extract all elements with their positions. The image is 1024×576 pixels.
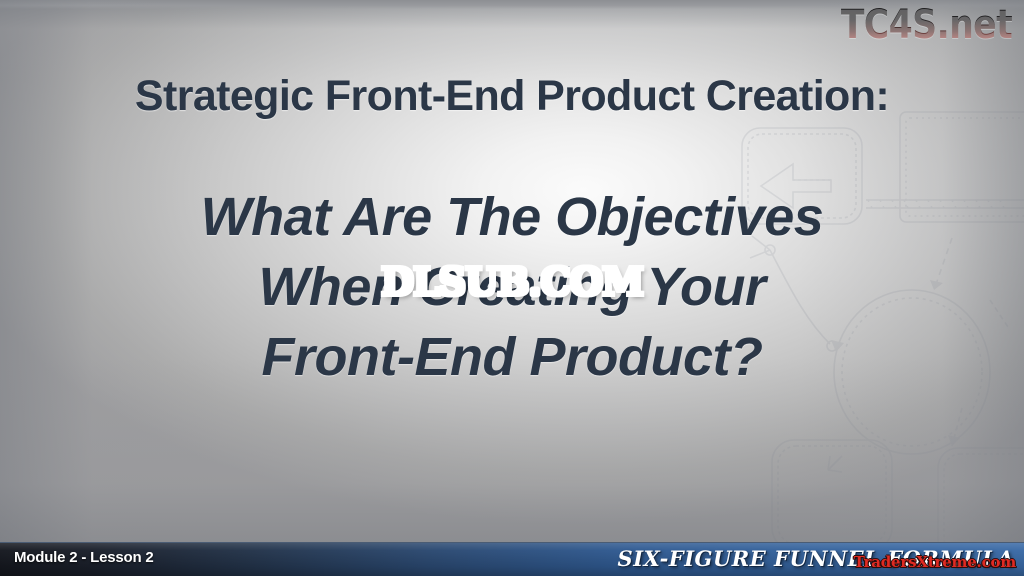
slide-heading: Strategic Front-End Product Creation: bbox=[0, 72, 1024, 121]
subheading-line-3: Front-End Product? bbox=[0, 322, 1024, 392]
subheading-line-1: What Are The Objectives bbox=[0, 182, 1024, 252]
center-watermark: DLSUB.COM bbox=[381, 259, 643, 304]
presentation-slide: TC4S.net Strategic Front-End Product Cre… bbox=[0, 0, 1024, 576]
footer-bar: Module 2 - Lesson 2 SIX-FIGURE FUNNEL FO… bbox=[0, 542, 1024, 576]
lesson-label: Module 2 - Lesson 2 bbox=[14, 549, 154, 566]
footer-watermark: TradersXtreme.com bbox=[854, 553, 1016, 571]
brand-logo: TC4S.net bbox=[841, 2, 1012, 48]
